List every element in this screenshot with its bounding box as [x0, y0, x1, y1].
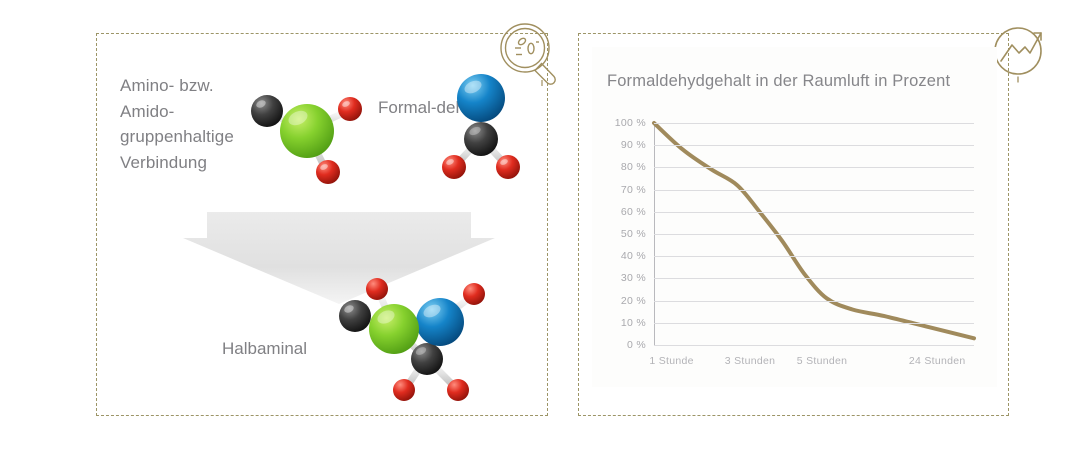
y-axis-tick-label: 0 % — [627, 339, 646, 351]
y-axis-tick-label: 80 % — [621, 161, 646, 173]
gridline — [654, 212, 974, 213]
gridline — [654, 190, 974, 191]
gridline — [654, 323, 974, 324]
y-axis-tick-label: 50 % — [621, 228, 646, 240]
gridline — [654, 145, 974, 146]
gridline — [654, 345, 974, 346]
y-axis-labels: 100 %90 %80 %70 %60 %50 %40 %30 %20 %10 … — [600, 123, 646, 345]
gridline — [654, 167, 974, 168]
y-axis-tick-label: 10 % — [621, 317, 646, 329]
y-axis-tick-label: 100 % — [615, 117, 646, 129]
x-axis-labels: 1 Stunde3 Stunden5 Stunden24 Stunden — [654, 355, 974, 375]
y-axis-tick-label: 90 % — [621, 139, 646, 151]
plot-area — [654, 123, 974, 345]
y-axis-tick-label: 30 % — [621, 272, 646, 284]
gridline — [654, 278, 974, 279]
x-axis-tick-label: 1 Stunde — [649, 355, 693, 367]
chart-card: Formaldehydgehalt in der Raumluft in Pro… — [592, 47, 997, 387]
gridline — [654, 234, 974, 235]
plot-wrapper: 100 %90 %80 %70 %60 %50 %40 %30 %20 %10 … — [600, 123, 990, 363]
y-axis-tick-label: 70 % — [621, 184, 646, 196]
gridline — [654, 256, 974, 257]
y-axis-tick-label: 20 % — [621, 295, 646, 307]
label-halbaminal: Halbaminal — [222, 339, 307, 359]
y-axis-tick-label: 40 % — [621, 250, 646, 262]
gridline — [654, 123, 974, 124]
x-axis-tick-label: 24 Stunden — [909, 355, 966, 367]
formaldehyde-molecule — [438, 70, 524, 188]
amino-compound-molecule — [238, 84, 384, 194]
y-axis-tick-label: 60 % — [621, 206, 646, 218]
chart-title: Formaldehydgehalt in der Raumluft in Pro… — [607, 72, 950, 91]
x-axis-tick-label: 5 Stunden — [797, 355, 848, 367]
halbaminal-molecule — [326, 272, 502, 404]
trend-chart-icon — [988, 20, 1054, 86]
x-axis-tick-label: 3 Stunden — [725, 355, 776, 367]
gridline — [654, 301, 974, 302]
